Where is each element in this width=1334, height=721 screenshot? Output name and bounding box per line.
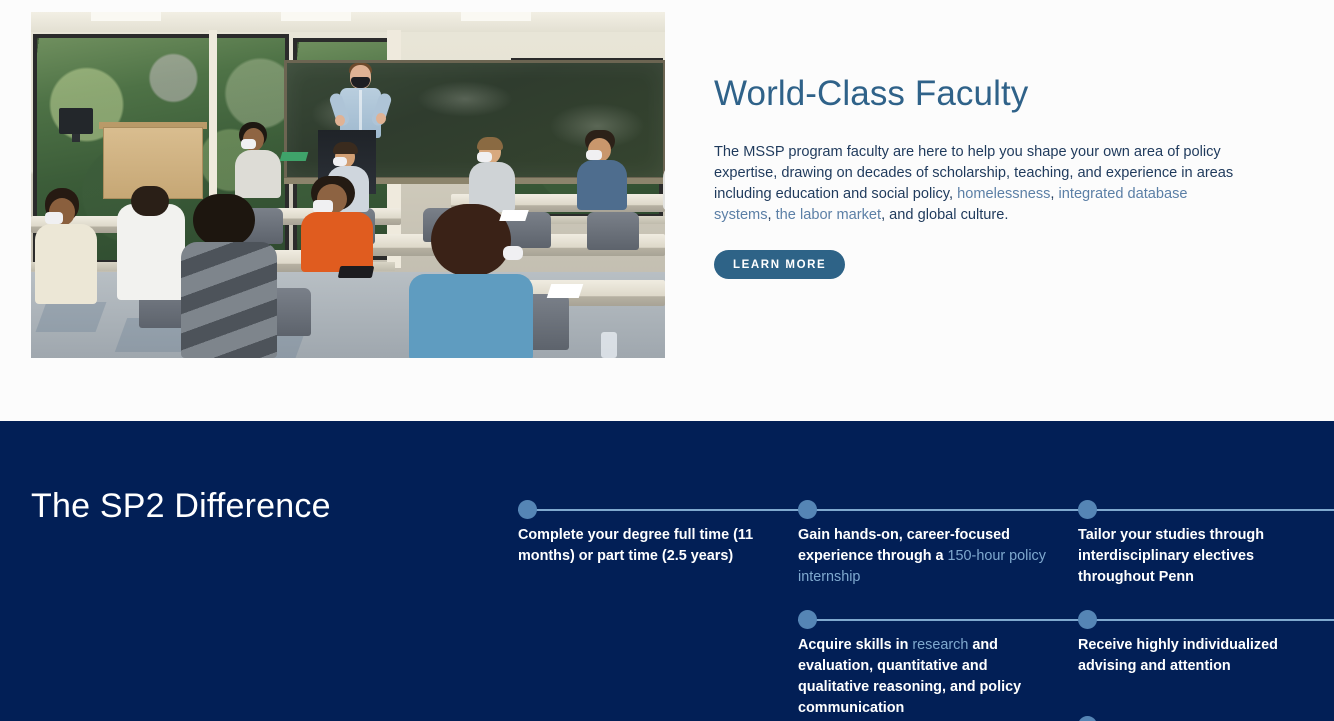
timeline-dot-icon [798,610,817,629]
classroom-chair [587,212,639,250]
student-torso [117,204,185,300]
timeline-row: Complete your degree full time (11 month… [518,496,1334,606]
timeline-dot-icon [1078,500,1097,519]
floor-tile [36,302,107,332]
timeline-item-full-or-part-time: Complete your degree full time (11 month… [518,496,798,567]
student-hair [333,142,358,154]
faculty-description: The MSSP program faculty are here to hel… [714,142,1242,226]
world-class-faculty-section: World-Class Faculty The MSSP program fac… [0,0,1334,421]
timeline-text-segment: Acquire skills in [798,637,912,653]
timeline-dot-icon [1078,610,1097,629]
timeline-connector-line [1078,619,1334,621]
chalk-smudge [417,81,513,117]
ceiling-light [461,12,531,21]
student-torso [577,160,627,210]
timeline-item-text: Gain hands-on, career-focused experience… [798,525,1060,588]
timeline-item-text: Acquire skills in research and evaluatio… [798,635,1060,719]
timeline-item-individualized-advising: Receive highly individualized advising a… [1078,606,1334,677]
timeline-marker [798,606,1078,635]
sp2-difference-section: The SP2 Difference Complete your degree … [0,421,1334,721]
monitor-stand [72,134,80,142]
sp2-difference-timeline: Complete your degree full time (11 month… [518,496,1334,716]
name-card [499,210,529,221]
monitor [59,108,93,134]
student-hair [431,204,511,276]
timeline-text-segment: Tailor your studies through interdiscipl… [1078,527,1264,585]
timeline-item-text: Tailor your studies through interdiscipl… [1078,525,1334,588]
face-mask-icon [241,139,256,149]
student-torso [235,150,281,198]
ceiling-light [281,12,351,21]
student-torso [409,274,533,358]
student-hair [131,186,169,216]
student-hair [477,137,503,150]
face-mask-icon [477,152,492,162]
timeline-connector-line [1078,509,1334,511]
timeline-marker [798,496,1078,525]
student-torso [181,242,277,358]
name-card [547,284,584,298]
timeline-item-text: Complete your degree full time (11 month… [518,525,780,567]
timeline-item-interdisciplinary-electives: Tailor your studies through interdiscipl… [1078,496,1334,588]
timeline-connector-line [798,509,1078,511]
timeline-dot-icon [1078,716,1097,721]
learn-more-button[interactable]: LEARN MORE [714,250,845,279]
green-folder [280,152,309,161]
instructor-hand [335,115,345,126]
faculty-description-tail: , and global culture. [881,207,1008,223]
student-torso [35,224,97,304]
classroom-photo-illustration [31,12,665,358]
timeline-dot-icon [798,500,817,519]
timeline-dot-icon [518,500,537,519]
water-bottle [601,332,617,358]
timeline-connector-line [798,619,1078,621]
timeline-item-research-skills: Acquire skills in research and evaluatio… [798,606,1078,719]
page-root: World-Class Faculty The MSSP program fac… [0,0,1334,721]
page-title: World-Class Faculty [714,74,1254,114]
classroom-photo [31,12,665,358]
text-separator: , [768,207,776,223]
text-separator: , [1050,186,1058,202]
ceiling-light [91,12,161,21]
face-mask-icon [586,150,602,160]
link-research[interactable]: research [912,637,968,653]
student-torso [301,212,373,272]
link-the-labor-market[interactable]: the labor market [776,207,881,223]
instructor-hand [376,113,386,124]
timeline-connector-line [518,509,798,511]
timeline-marker [1078,606,1334,635]
sp2-difference-title: The SP2 Difference [31,487,331,526]
timeline-row-partial [1078,716,1097,721]
link-homelessness[interactable]: homelessness [957,186,1050,202]
timeline-text-segment: Complete your degree full time (11 month… [518,527,753,564]
timeline-row: Acquire skills in research and evaluatio… [518,606,1334,716]
phone-on-desk [338,266,375,278]
face-mask-icon [45,212,63,224]
timeline-marker [518,496,798,525]
timeline-marker [1078,496,1334,525]
face-mask-icon [503,246,523,260]
timeline-item-policy-internship: Gain hands-on, career-focused experience… [798,496,1078,588]
faculty-copy: World-Class Faculty The MSSP program fac… [714,74,1254,279]
student-hair [193,194,255,246]
face-mask-icon [333,157,347,166]
timeline-item-text: Receive highly individualized advising a… [1078,635,1334,677]
timeline-text-segment: Receive highly individualized advising a… [1078,637,1278,674]
